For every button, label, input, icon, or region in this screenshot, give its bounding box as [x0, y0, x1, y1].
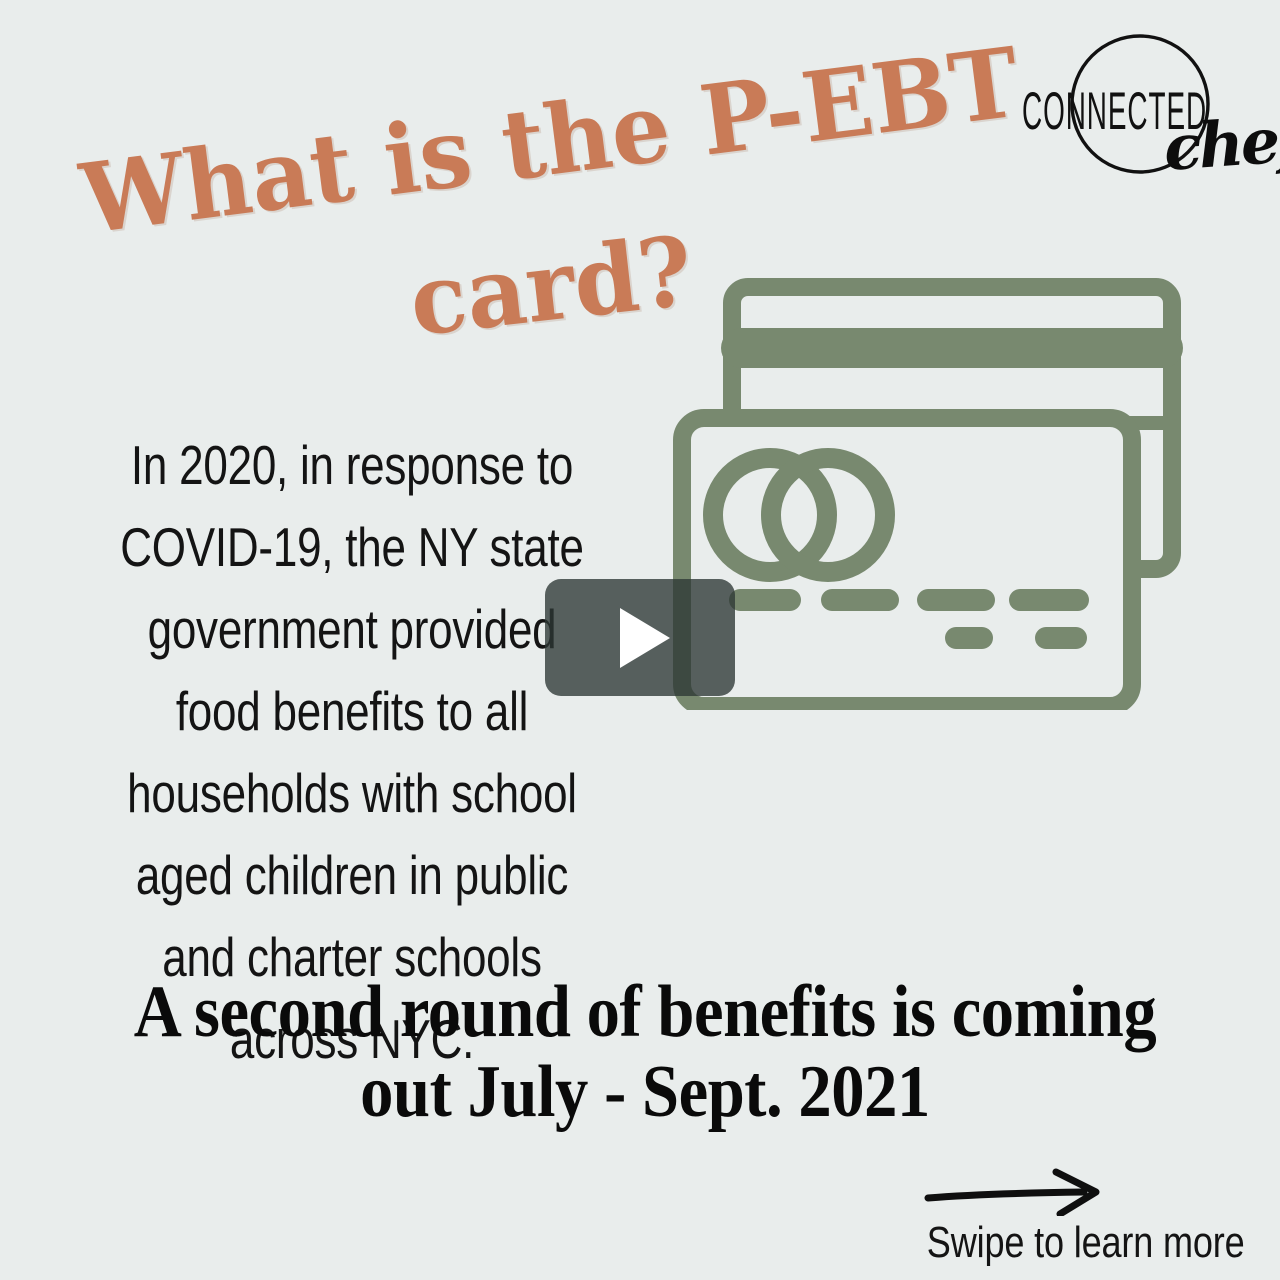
credit-card-icon	[660, 260, 1200, 710]
swipe-label: Swipe to learn more	[927, 1216, 1189, 1270]
credit-card-illustration	[660, 260, 1200, 710]
page-title-line-2: card?	[405, 223, 697, 350]
brand-script-chef: chef	[1162, 109, 1280, 180]
infographic-slide: CONNECTED chef What is the P-EBT card?	[0, 0, 1280, 1280]
right-arrow-icon	[924, 1168, 1114, 1216]
brand-wordmark: CONNECTED	[1022, 84, 1173, 137]
play-triangle-icon	[620, 608, 670, 668]
right-arrow-svg	[924, 1168, 1114, 1216]
video-play-button[interactable]	[545, 579, 735, 696]
page-title-line-1: What is the P-EBT	[76, 35, 1024, 248]
brand-logo: CONNECTED chef	[1018, 22, 1266, 192]
swipe-cue[interactable]: Swipe to learn more	[898, 1168, 1218, 1272]
announcement-headline: A second round of benefits is coming out…	[128, 972, 1163, 1132]
